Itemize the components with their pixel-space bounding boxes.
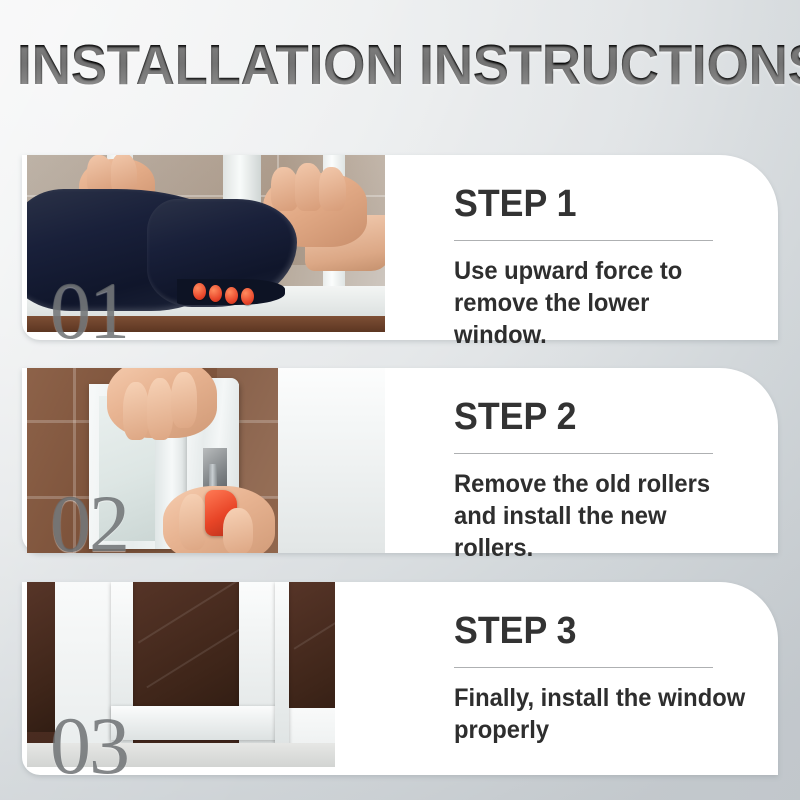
page-title-container: INSTALLATION INSTRUCTIONS <box>0 33 800 97</box>
step-2-title: STEP 2 <box>454 396 576 438</box>
step-1-content: STEP 1 Use upward force to remove the lo… <box>454 155 744 340</box>
step-3-photo <box>27 582 385 767</box>
step-1-photo <box>27 155 385 332</box>
step-3-content: STEP 3 Finally, install the window prope… <box>454 582 744 775</box>
step-1-title: STEP 1 <box>454 183 576 225</box>
step-2-description: Remove the old rollers and install the n… <box>454 468 749 564</box>
step-3-divider <box>454 667 713 668</box>
step-3-description: Finally, install the window properly <box>454 682 749 746</box>
step-1-divider <box>454 240 713 241</box>
step-1-description: Use upward force to remove the lower win… <box>454 255 749 351</box>
step-card-1: 01 STEP 1 Use upward force to remove the… <box>22 155 778 340</box>
step-3-title: STEP 3 <box>454 610 576 652</box>
step-2-content: STEP 2 Remove the old rollers and instal… <box>454 368 744 553</box>
step-2-photo <box>27 368 385 553</box>
step-card-3: 03 STEP 3 Finally, install the window pr… <box>22 582 778 775</box>
page-title: INSTALLATION INSTRUCTIONS <box>17 33 800 97</box>
step-2-divider <box>454 453 713 454</box>
step-card-2: 02 STEP 2 Remove the old rollers and ins… <box>22 368 778 553</box>
